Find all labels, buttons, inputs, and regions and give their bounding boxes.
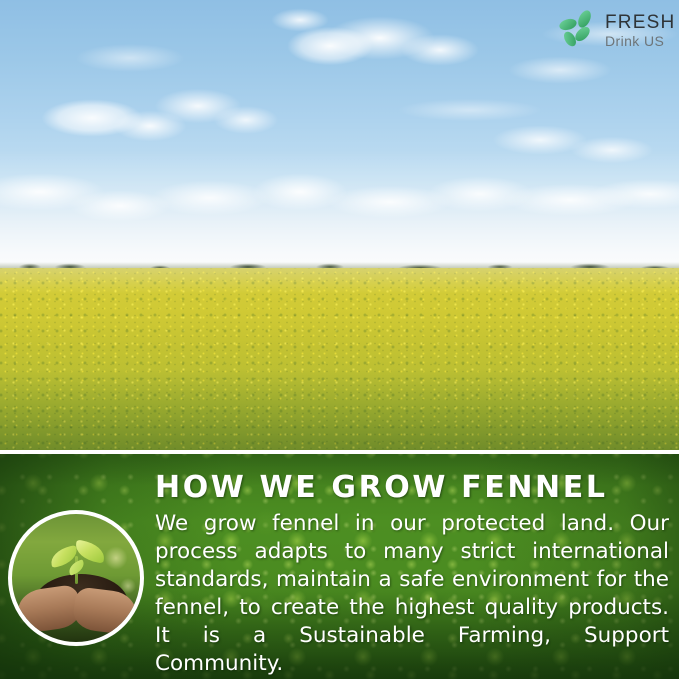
brand-logo-text: FRESH Drink US [605, 13, 675, 48]
cloud-layer-horizon [0, 150, 679, 270]
leaf-cluster-icon [556, 8, 600, 52]
brand-tagline: Drink US [605, 34, 675, 48]
seedling-in-hands-circle-photo [8, 510, 144, 646]
hero-photo-field-and-sky [0, 0, 679, 450]
field-depth-shading [0, 268, 679, 450]
panel-heading: HOW WE GROW FENNEL [155, 470, 669, 505]
product-infographic-poster: FRESH Drink US HOW WE GROW FENNEL We gro… [0, 0, 679, 679]
brand-name: FRESH [605, 13, 675, 32]
panel-body-text: We grow fennel in our protected land. Ou… [155, 510, 669, 679]
fennel-field-region [0, 268, 679, 450]
brand-logo: FRESH Drink US [556, 6, 674, 54]
